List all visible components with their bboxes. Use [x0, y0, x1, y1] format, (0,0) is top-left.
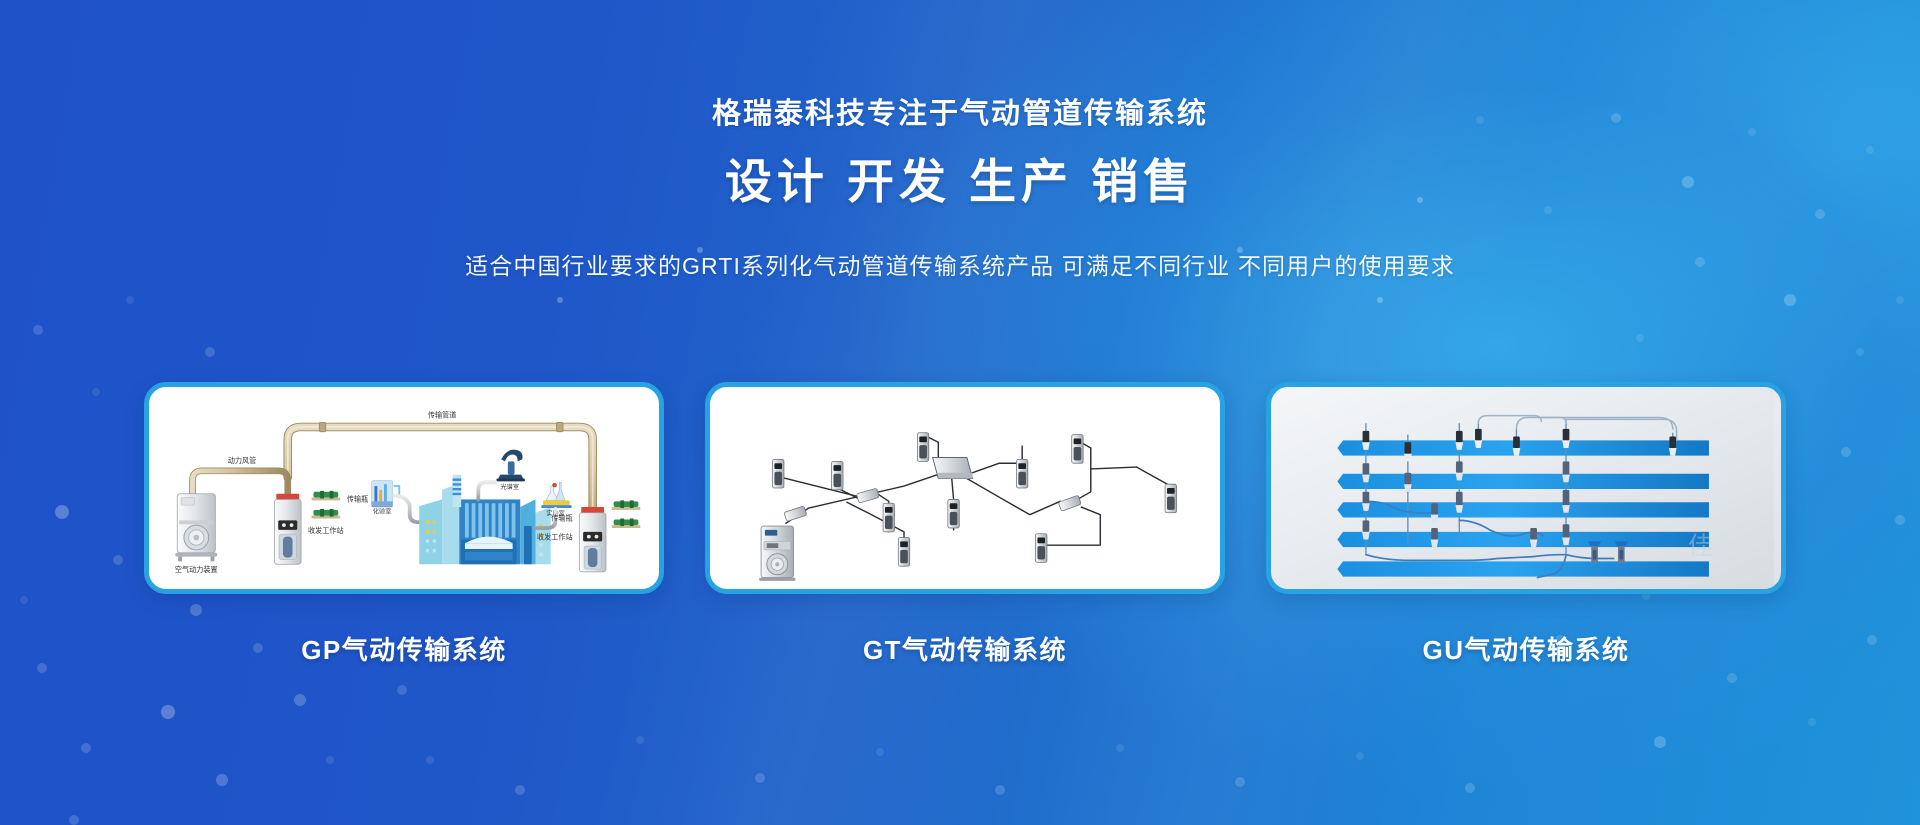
background-dot — [326, 756, 334, 764]
background-dot — [161, 705, 175, 719]
gp-label-lab-spectro: 光谱室 — [500, 483, 519, 491]
background-dot — [1654, 736, 1666, 748]
product-card-row: 动力风管 传输管道 空气动力装置 — [144, 382, 1786, 667]
gt-couplings — [784, 488, 1081, 521]
background-dot — [1784, 294, 1796, 306]
page-headline: 格瑞泰科技专注于气动管道传输系统 — [0, 96, 1920, 132]
hero-banner: 格瑞泰科技专注于气动管道传输系统 设计 开发 生产 销售 适合中国行业要求的GR… — [0, 0, 1920, 825]
gp-label-air-duct: 动力风管 — [228, 456, 257, 465]
gp-label-lab-chem: 化验室 — [373, 508, 392, 516]
background-dot — [33, 325, 43, 335]
gt-tube-network — [778, 435, 1171, 566]
product-image-gu[interactable]: 佳 — [1266, 382, 1786, 594]
gt-stations — [773, 433, 1177, 566]
background-dot — [69, 815, 79, 825]
background-dot — [557, 297, 563, 303]
gp-label-pipeline: 传输管道 — [428, 410, 457, 419]
gp-label-blower: 空气动力装置 — [175, 565, 218, 574]
background-dot — [113, 555, 123, 565]
background-dot — [1235, 777, 1245, 787]
gp-station-right — [579, 507, 606, 572]
gp-label-carrier-right: 传输瓶 — [551, 513, 572, 522]
background-dot — [1727, 673, 1737, 683]
gu-watermark: 佳 — [1688, 533, 1713, 561]
gp-lab-general — [541, 482, 571, 508]
background-dot — [1636, 334, 1644, 342]
background-dot — [1841, 447, 1851, 457]
background-dot — [81, 743, 91, 753]
background-dot — [755, 773, 765, 783]
product-card-gp[interactable]: 动力风管 传输管道 空气动力装置 — [144, 382, 664, 667]
background-dot — [515, 785, 525, 795]
background-dot — [1377, 297, 1383, 303]
background-dot — [426, 756, 434, 764]
product-card-gt[interactable]: GT气动传输系统 — [705, 382, 1225, 667]
background-dot — [1116, 744, 1124, 752]
background-dot — [205, 347, 215, 357]
gp-carriers-left — [312, 491, 341, 519]
gp-label-station-right: 收发工作站 — [537, 532, 573, 541]
background-dot — [1856, 348, 1864, 356]
gu-diagram: 佳 — [1271, 387, 1781, 589]
background-dot — [37, 663, 47, 673]
background-dot — [1356, 752, 1364, 760]
background-dot — [92, 388, 100, 396]
gp-carriers-right — [612, 500, 641, 528]
gp-station-left — [274, 494, 301, 565]
gp-label-station-left: 收发工作站 — [308, 526, 344, 535]
gp-building — [419, 475, 550, 565]
background-dot — [397, 685, 407, 695]
gp-diagram: 动力风管 传输管道 空气动力装置 — [149, 387, 659, 589]
hero-text-block: 格瑞泰科技专注于气动管道传输系统 设计 开发 生产 销售 适合中国行业要求的GR… — [0, 96, 1920, 281]
page-subheadline: 设计 开发 生产 销售 — [0, 154, 1920, 210]
background-dot — [294, 694, 306, 706]
product-card-gu[interactable]: 佳 GU气动传输系统 — [1266, 382, 1786, 667]
gp-lab-spectro — [496, 450, 525, 482]
gt-blower — [759, 526, 795, 581]
page-tagline: 适合中国行业要求的GRTI系列化气动管道传输系统产品 可满足不同行业 不同用户的… — [0, 247, 1920, 281]
background-dot — [126, 296, 134, 304]
background-dot — [1808, 718, 1816, 726]
background-dot — [636, 736, 644, 744]
gp-lab-chem — [372, 480, 400, 507]
product-image-gp[interactable]: 动力风管 传输管道 空气动力装置 — [144, 382, 664, 594]
product-image-gt[interactable] — [705, 382, 1225, 594]
gp-blower — [175, 494, 217, 562]
background-dot — [1867, 635, 1877, 645]
product-caption-gt: GT气动传输系统 — [705, 630, 1225, 667]
gt-diagram — [710, 387, 1220, 589]
background-dot — [1896, 296, 1904, 304]
background-dot — [995, 785, 1005, 795]
background-dot — [1895, 515, 1905, 525]
background-dot — [876, 748, 884, 756]
gp-label-carrier-left: 传输瓶 — [347, 494, 368, 503]
product-caption-gu: GU气动传输系统 — [1266, 630, 1786, 667]
background-dot — [216, 774, 228, 786]
product-caption-gp: GP气动传输系统 — [144, 630, 664, 667]
background-dot — [20, 596, 28, 604]
background-dot — [1465, 783, 1475, 793]
gt-diverter-hub — [933, 458, 973, 479]
background-dot — [55, 505, 69, 519]
